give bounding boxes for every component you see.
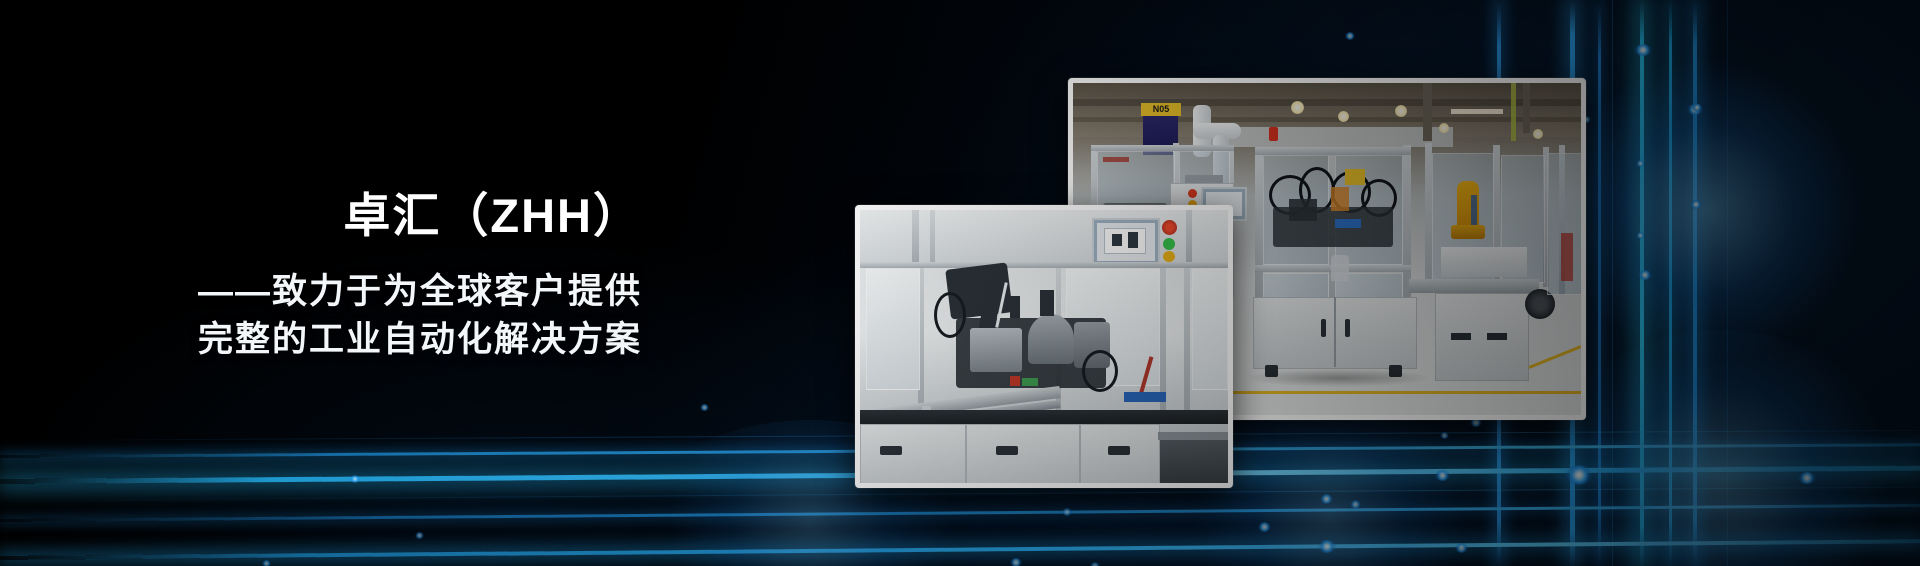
vignette-overlay	[0, 0, 1920, 566]
hero-banner: N05	[0, 0, 1920, 566]
